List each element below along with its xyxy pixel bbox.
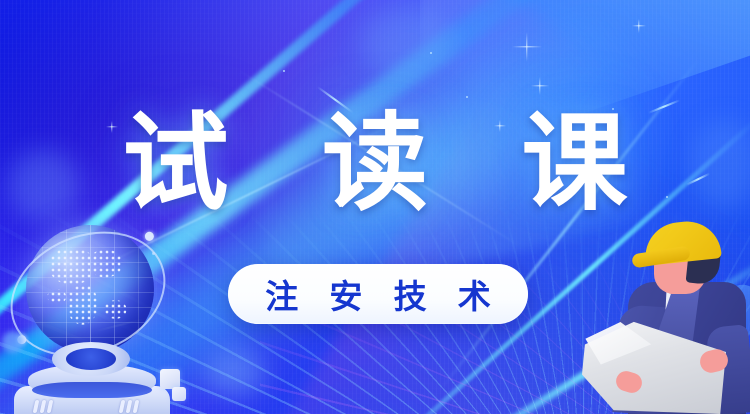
globe-side-orb: [2, 331, 24, 353]
soft-blob-2: [360, 8, 450, 78]
pedestal-core: [66, 348, 116, 370]
particle-dot: [466, 96, 468, 98]
promo-banner: 试 读 课 注 安 技 术: [0, 0, 750, 414]
pedestal-vents-right: [120, 400, 138, 413]
pedestal-blue-band: [32, 382, 152, 398]
engineer-illustration: [570, 234, 750, 414]
globe-graphic: [2, 219, 182, 414]
subtitle-pill-label: 注 安 技 术: [254, 270, 502, 318]
particle-dot: [430, 52, 432, 54]
pedestal-base: [8, 342, 176, 414]
particle-dot: [283, 70, 285, 72]
tech-chip: [160, 369, 180, 389]
subtitle-pill[interactable]: 注 安 技 术: [228, 264, 528, 324]
pedestal-vents-left: [34, 400, 52, 413]
soft-blob-4: [205, 350, 265, 396]
page-title: 试 读 课: [0, 104, 750, 224]
tech-chip: [172, 387, 186, 401]
